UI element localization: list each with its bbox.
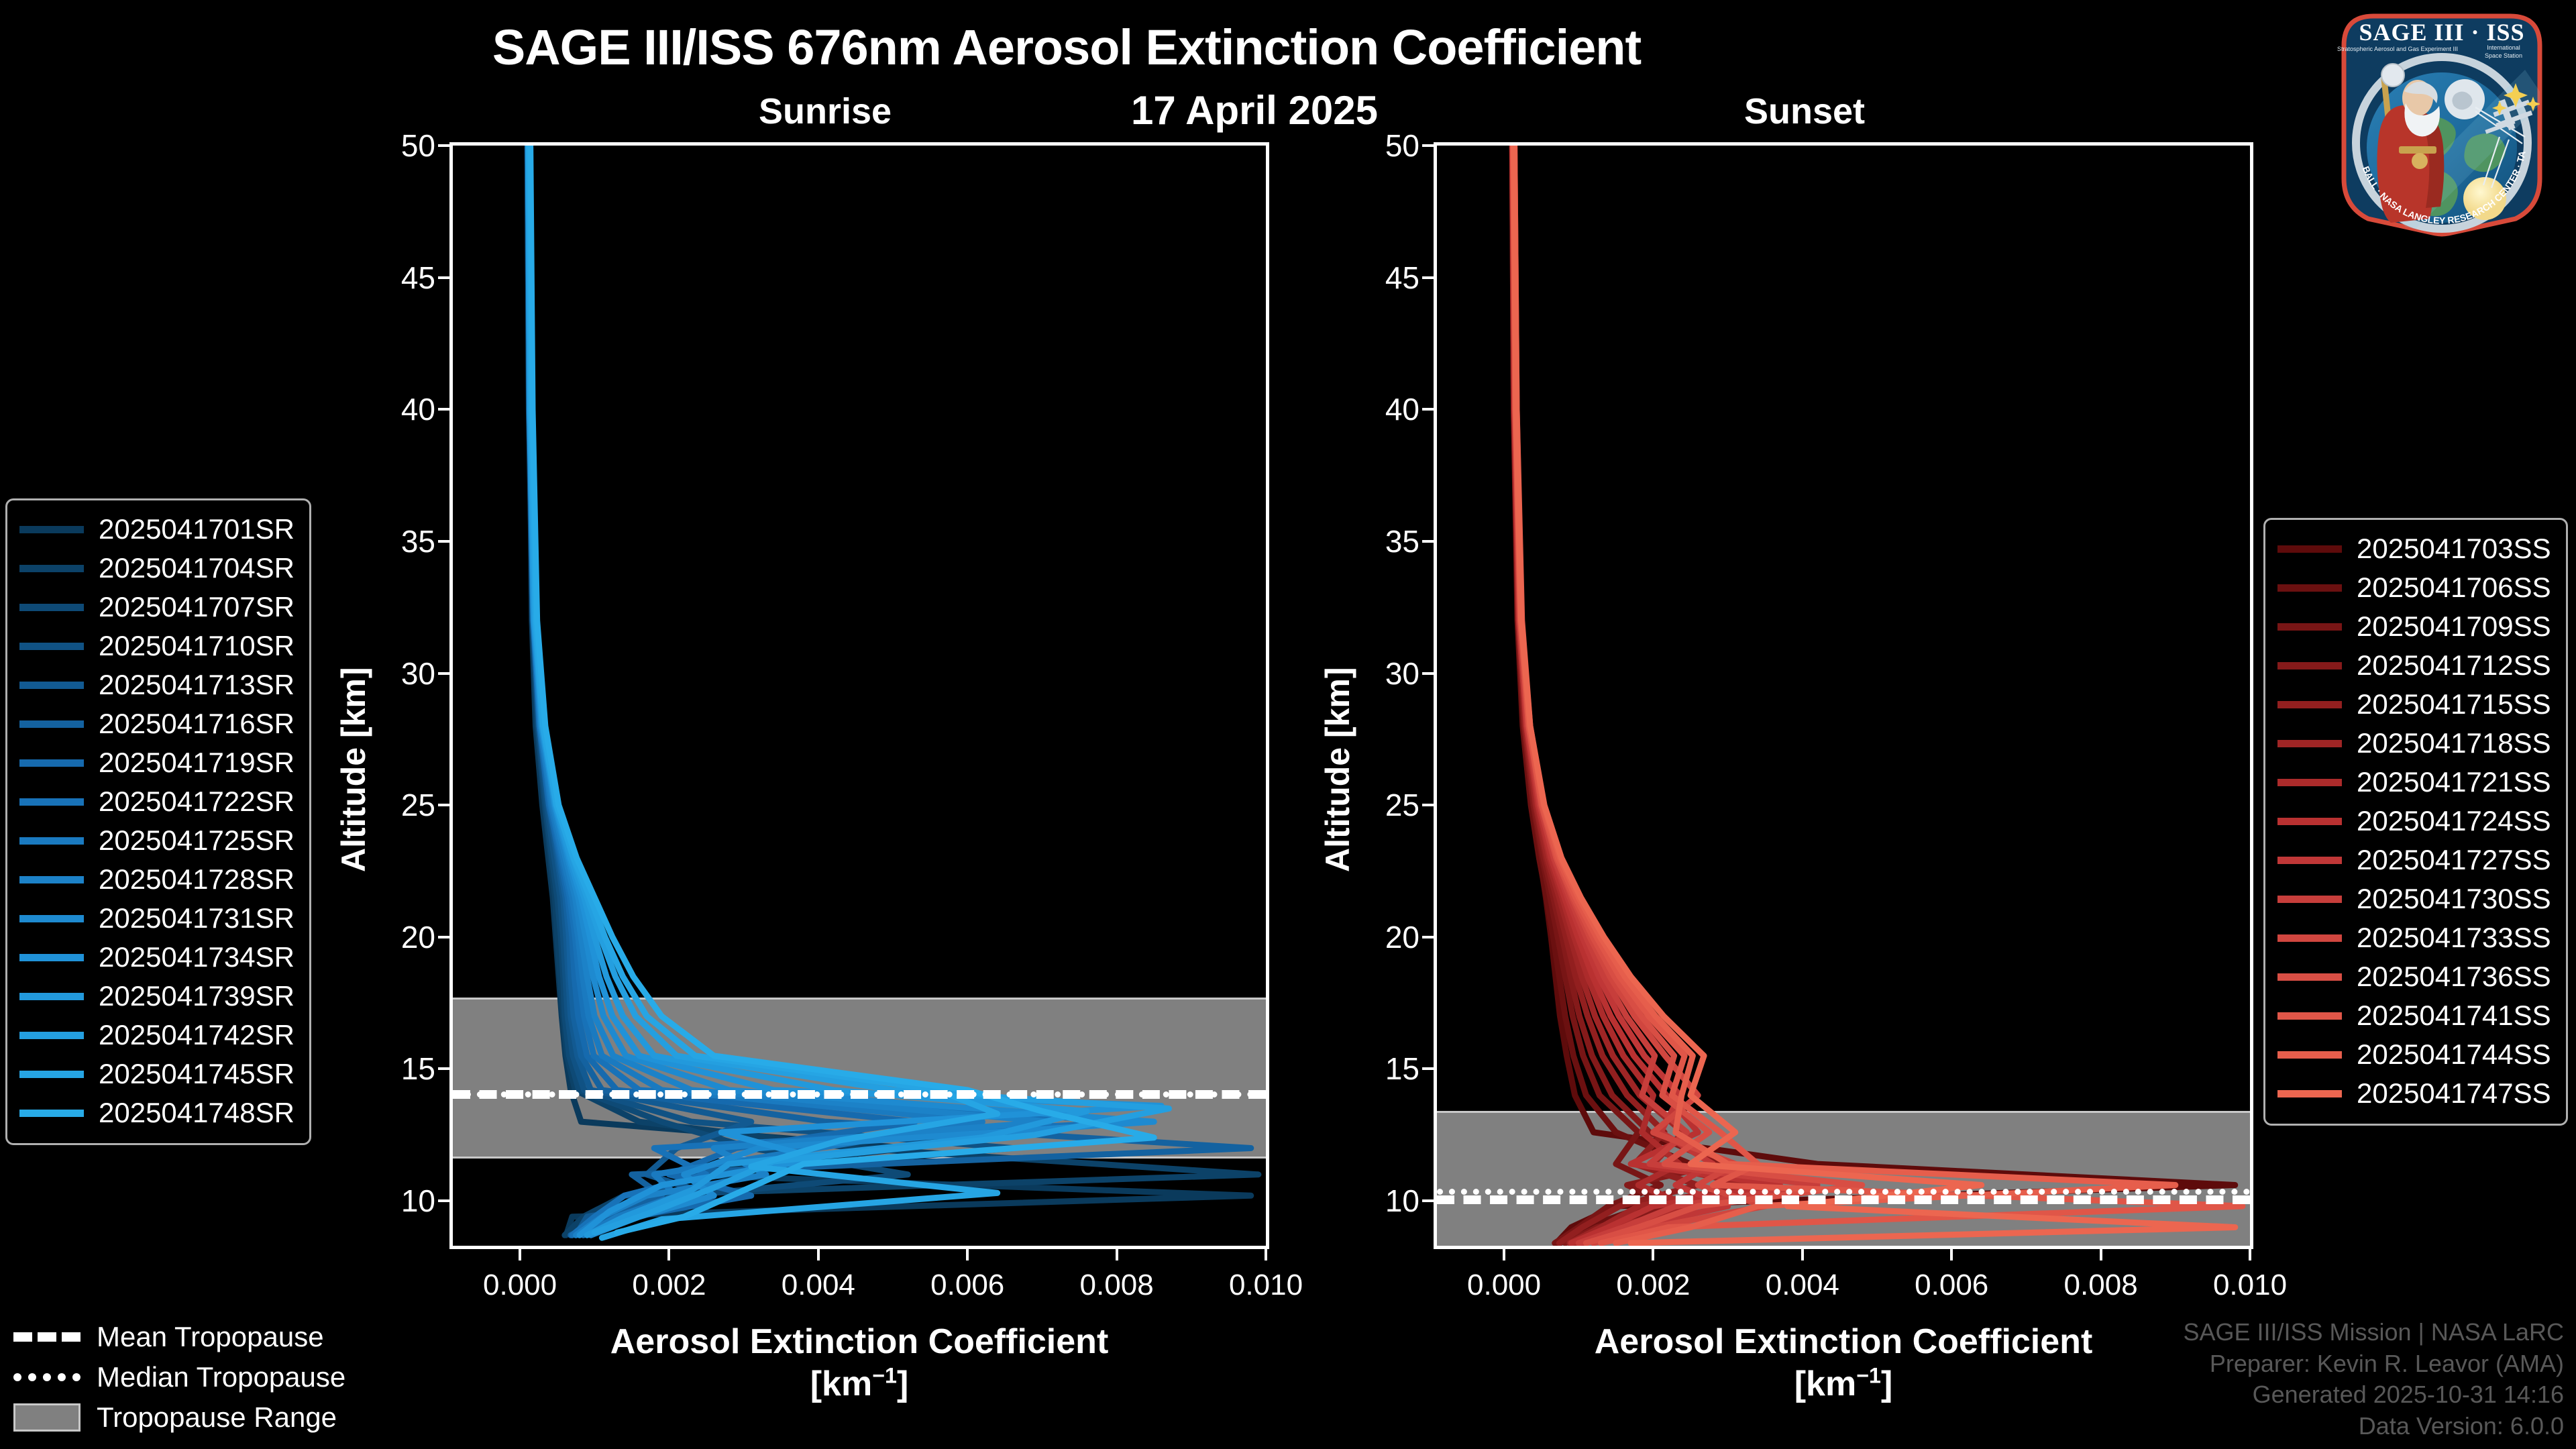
sunrise-event-legend-item[interactable]: 2025041734SR	[19, 938, 294, 977]
sunset-x-axis-unit: [km−1]	[1794, 1364, 1893, 1403]
y-axis-tick-label: 10	[1385, 1183, 1419, 1219]
extinction-profile-line	[1513, 146, 2242, 1243]
legend-row-tropopause-range: Tropopause Range	[13, 1397, 345, 1438]
legend-event-label: 2025041745SR	[99, 1058, 294, 1090]
legend-event-label: 2025041712SS	[2357, 649, 2551, 682]
y-axis-tick-mark	[438, 672, 453, 675]
svg-text:Space Station: Space Station	[2485, 52, 2522, 59]
sunrise-plot-panel: 5045403530252015100.0000.0020.0040.0060.…	[449, 142, 1269, 1249]
sunrise-event-legend-item[interactable]: 2025041701SR	[19, 510, 294, 549]
legend-color-swatch-icon	[19, 798, 84, 806]
y-axis-tick-mark	[438, 276, 453, 279]
extinction-profile-line	[1513, 146, 2235, 1243]
sunset-event-legend-item[interactable]: 2025041727SS	[2277, 841, 2551, 879]
extinction-profile-line	[528, 146, 1258, 1235]
y-axis-tick-label: 10	[401, 1183, 435, 1219]
legend-color-swatch-icon	[19, 1071, 84, 1078]
legend-event-label: 2025041734SR	[99, 941, 294, 973]
legend-color-swatch-icon	[19, 526, 84, 533]
legend-color-swatch-icon	[19, 837, 84, 845]
legend-color-swatch-icon	[2277, 701, 2342, 708]
extinction-profile-line	[529, 146, 1250, 1235]
sunset-event-legend-item[interactable]: 2025041709SS	[2277, 607, 2551, 646]
tropopause-range-label: Tropopause Range	[97, 1401, 337, 1434]
legend-color-swatch-icon	[2277, 857, 2342, 864]
tropopause-legend: Mean Tropopause Median Tropopause Tropop…	[13, 1317, 345, 1438]
extinction-profile-line	[529, 146, 982, 1235]
sunset-event-legend-item[interactable]: 2025041712SS	[2277, 646, 2551, 685]
legend-event-label: 2025041710SR	[99, 630, 294, 662]
sunset-event-legend-item[interactable]: 2025041730SS	[2277, 879, 2551, 918]
y-axis-tick-label: 40	[401, 391, 435, 427]
legend-color-swatch-icon	[19, 993, 84, 1000]
legend-event-label: 2025041736SS	[2357, 961, 2551, 993]
legend-color-swatch-icon	[2277, 623, 2342, 631]
y-axis-tick-mark	[1422, 1067, 1437, 1070]
credits-preparer: Preparer: Kevin R. Leavor (AMA)	[2183, 1348, 2564, 1380]
y-axis-tick-label: 20	[401, 919, 435, 955]
y-axis-tick-mark	[1422, 672, 1437, 675]
x-axis-tick-label: 0.010	[2213, 1269, 2287, 1302]
x-axis-tick-mark	[1950, 1246, 1953, 1260]
legend-event-label: 2025041703SS	[2357, 533, 2551, 565]
mean-tropopause-label: Mean Tropopause	[97, 1321, 324, 1353]
legend-event-label: 2025041747SS	[2357, 1077, 2551, 1110]
sunset-event-legend-item[interactable]: 2025041703SS	[2277, 529, 2551, 568]
extinction-profile-line	[1514, 146, 1750, 1243]
sunset-median-tropopause-line	[1437, 1189, 2250, 1195]
legend-event-label: 2025041733SS	[2357, 922, 2551, 954]
legend-color-swatch-icon	[19, 604, 84, 611]
y-axis-tick-mark	[1422, 276, 1437, 279]
median-tropopause-label: Median Tropopause	[97, 1361, 345, 1393]
y-axis-tick-mark	[438, 408, 453, 411]
y-axis-tick-label: 30	[401, 655, 435, 692]
legend-color-swatch-icon	[19, 876, 84, 883]
legend-color-swatch-icon	[2277, 818, 2342, 825]
sunset-event-legend-item[interactable]: 2025041744SS	[2277, 1035, 2551, 1074]
legend-event-label: 2025041716SR	[99, 708, 294, 740]
svg-text:SAGE III · ISS: SAGE III · ISS	[2359, 19, 2524, 46]
legend-color-swatch-icon	[2277, 740, 2342, 747]
y-axis-tick-mark	[1422, 936, 1437, 938]
sunset-y-axis-label: Altitude [km]	[1318, 667, 1357, 872]
legend-event-label: 2025041730SS	[2357, 883, 2551, 915]
y-axis-tick-mark	[438, 936, 453, 938]
legend-color-swatch-icon	[19, 954, 84, 961]
mean-tropopause-dashed-line-icon	[13, 1332, 80, 1342]
observation-date-title: 17 April 2025	[1006, 87, 1503, 133]
legend-color-swatch-icon	[2277, 662, 2342, 669]
y-axis-tick-mark	[1422, 408, 1437, 411]
x-axis-tick-mark	[966, 1246, 969, 1260]
sunrise-plot-area	[453, 146, 1266, 1246]
sunrise-event-legend-item[interactable]: 2025041748SR	[19, 1093, 294, 1132]
x-axis-tick-mark	[1801, 1246, 1804, 1260]
sunrise-event-legend-item[interactable]: 2025041710SR	[19, 627, 294, 665]
legend-event-label: 2025041724SS	[2357, 805, 2551, 837]
legend-color-swatch-icon	[2277, 934, 2342, 942]
y-axis-tick-mark	[438, 1199, 453, 1202]
sunrise-x-axis-label-text: Aerosol Extinction Coefficient	[610, 1322, 1109, 1361]
legend-event-label: 2025041709SS	[2357, 610, 2551, 643]
sunrise-event-legend[interactable]: 2025041701SR2025041704SR2025041707SR2025…	[5, 498, 311, 1145]
legend-event-label: 2025041748SR	[99, 1097, 294, 1129]
x-axis-tick-label: 0.002	[632, 1269, 706, 1302]
legend-color-swatch-icon	[2277, 1012, 2342, 1020]
x-axis-tick-label: 0.004	[1766, 1269, 1839, 1302]
legend-event-label: 2025041741SS	[2357, 1000, 2551, 1032]
sunrise-event-legend-item[interactable]: 2025041719SR	[19, 743, 294, 782]
y-axis-tick-label: 35	[1385, 523, 1419, 559]
legend-color-swatch-icon	[2277, 1090, 2342, 1097]
page-title: SAGE III/ISS 676nm Aerosol Extinction Co…	[0, 19, 2133, 76]
legend-color-swatch-icon	[19, 759, 84, 767]
legend-row-median-tropopause: Median Tropopause	[13, 1357, 345, 1397]
x-axis-tick-mark	[2249, 1246, 2251, 1260]
legend-row-mean-tropopause: Mean Tropopause	[13, 1317, 345, 1357]
legend-event-label: 2025041742SR	[99, 1019, 294, 1051]
x-axis-tick-label: 0.008	[2064, 1269, 2138, 1302]
sunrise-event-legend-item[interactable]: 2025041713SR	[19, 665, 294, 704]
legend-color-swatch-icon	[19, 682, 84, 689]
sunset-x-axis-label: Aerosol Extinction Coefficient [km−1]	[1434, 1322, 2253, 1405]
legend-color-swatch-icon	[19, 643, 84, 650]
y-axis-tick-label: 15	[401, 1051, 435, 1087]
legend-event-label: 2025041721SS	[2357, 766, 2551, 798]
y-axis-tick-mark	[438, 804, 453, 806]
legend-color-swatch-icon	[2277, 584, 2342, 592]
sunrise-x-axis-label: Aerosol Extinction Coefficient [km−1]	[449, 1322, 1269, 1405]
legend-event-label: 2025041739SR	[99, 980, 294, 1012]
x-axis-tick-label: 0.010	[1229, 1269, 1303, 1302]
legend-color-swatch-icon	[19, 915, 84, 922]
sunrise-event-legend-item[interactable]: 2025041731SR	[19, 899, 294, 938]
sunset-event-legend-item[interactable]: 2025041706SS	[2277, 568, 2551, 607]
y-axis-tick-label: 25	[401, 787, 435, 823]
legend-event-label: 2025041706SS	[2357, 572, 2551, 604]
sunrise-event-legend-item[interactable]: 2025041716SR	[19, 704, 294, 743]
x-axis-tick-mark	[519, 1246, 521, 1260]
x-axis-tick-label: 0.006	[930, 1269, 1004, 1302]
y-axis-tick-label: 45	[401, 260, 435, 296]
svg-text:Stratospheric Aerosol and Gas: Stratospheric Aerosol and Gas Experiment…	[2337, 46, 2458, 52]
legend-event-label: 2025041728SR	[99, 863, 294, 896]
y-axis-tick-label: 35	[401, 523, 435, 559]
x-axis-tick-label: 0.004	[782, 1269, 855, 1302]
tropopause-range-swatch-icon	[13, 1403, 80, 1432]
legend-event-label: 2025041713SR	[99, 669, 294, 701]
x-axis-tick-mark	[1503, 1246, 1505, 1260]
sunset-event-legend-item[interactable]: 2025041736SS	[2277, 957, 2551, 996]
y-axis-tick-label: 40	[1385, 391, 1419, 427]
legend-color-swatch-icon	[2277, 896, 2342, 903]
sunrise-event-legend-item[interactable]: 2025041739SR	[19, 977, 294, 1016]
x-axis-tick-label: 0.000	[483, 1269, 557, 1302]
y-axis-tick-label: 25	[1385, 787, 1419, 823]
sunset-plot-panel: 5045403530252015100.0000.0020.0040.0060.…	[1434, 142, 2253, 1249]
y-axis-tick-mark	[1422, 804, 1437, 806]
y-axis-tick-label: 50	[401, 127, 435, 164]
x-axis-tick-label: 0.002	[1616, 1269, 1690, 1302]
sunrise-y-axis-label: Altitude [km]	[334, 667, 373, 872]
legend-event-label: 2025041722SR	[99, 786, 294, 818]
sunset-event-legend-item[interactable]: 2025041721SS	[2277, 763, 2551, 802]
y-axis-tick-mark	[1422, 144, 1437, 147]
legend-event-label: 2025041731SR	[99, 902, 294, 934]
legend-color-swatch-icon	[19, 565, 84, 572]
extinction-profile-line	[528, 146, 751, 1235]
sunrise-event-legend-item[interactable]: 2025041728SR	[19, 860, 294, 899]
y-axis-tick-label: 50	[1385, 127, 1419, 164]
y-axis-tick-mark	[438, 540, 453, 543]
legend-event-label: 2025041701SR	[99, 513, 294, 545]
y-axis-tick-label: 45	[1385, 260, 1419, 296]
legend-color-swatch-icon	[2277, 1051, 2342, 1059]
y-axis-tick-mark	[1422, 540, 1437, 543]
x-axis-tick-mark	[817, 1246, 820, 1260]
extinction-profile-line	[1514, 146, 2235, 1243]
x-axis-tick-label: 0.000	[1467, 1269, 1541, 1302]
x-axis-tick-mark	[2100, 1246, 2102, 1260]
sunrise-median-tropopause-line	[453, 1091, 1266, 1097]
legend-event-label: 2025041707SR	[99, 591, 294, 623]
sunset-mean-tropopause-line	[1437, 1195, 2250, 1204]
legend-color-swatch-icon	[19, 1032, 84, 1039]
sunrise-event-legend-item[interactable]: 2025041742SR	[19, 1016, 294, 1055]
sunset-event-legend-item[interactable]: 2025041741SS	[2277, 996, 2551, 1035]
x-axis-tick-mark	[667, 1246, 670, 1260]
sunset-panel-title: Sunset	[1570, 91, 2039, 132]
legend-color-swatch-icon	[2277, 973, 2342, 981]
sunrise-panel-title: Sunrise	[590, 91, 1060, 132]
extinction-profile-line	[529, 146, 1250, 1235]
sunset-event-legend-item[interactable]: 2025041724SS	[2277, 802, 2551, 841]
svg-text:International: International	[2487, 44, 2520, 51]
sage-iii-iss-mission-patch-logo: SAGE III · ISS Stratospheric Aerosol and…	[2324, 5, 2560, 241]
sunset-event-legend-item[interactable]: 2025041715SS	[2277, 685, 2551, 724]
legend-event-label: 2025041727SS	[2357, 844, 2551, 876]
legend-color-swatch-icon	[19, 720, 84, 728]
legend-color-swatch-icon	[19, 1110, 84, 1117]
sunrise-event-legend-item[interactable]: 2025041725SR	[19, 821, 294, 860]
y-axis-tick-label: 15	[1385, 1051, 1419, 1087]
legend-event-label: 2025041744SS	[2357, 1038, 2551, 1071]
sunrise-event-legend-item[interactable]: 2025041745SR	[19, 1055, 294, 1093]
sunset-extinction-curves	[1437, 146, 2250, 1246]
legend-color-swatch-icon	[2277, 545, 2342, 553]
sunset-event-legend-item[interactable]: 2025041718SS	[2277, 724, 2551, 763]
y-axis-tick-label: 20	[1385, 919, 1419, 955]
y-axis-tick-label: 30	[1385, 655, 1419, 692]
median-tropopause-dotted-line-icon	[13, 1373, 80, 1381]
x-axis-tick-label: 0.006	[1915, 1269, 1988, 1302]
sunset-plot-area	[1437, 146, 2250, 1246]
credits-block: SAGE III/ISS Mission | NASA LaRC Prepare…	[2183, 1317, 2564, 1442]
legend-event-label: 2025041725SR	[99, 824, 294, 857]
legend-event-label: 2025041718SS	[2357, 727, 2551, 759]
sunrise-extinction-curves	[453, 146, 1266, 1246]
credits-data-version: Data Version: 6.0.0	[2183, 1411, 2564, 1442]
y-axis-tick-mark	[438, 144, 453, 147]
y-axis-tick-mark	[1422, 1199, 1437, 1202]
sunset-event-legend-item[interactable]: 2025041747SS	[2277, 1074, 2551, 1113]
x-axis-tick-label: 0.008	[1080, 1269, 1154, 1302]
sunset-event-legend[interactable]: 2025041703SS2025041706SS2025041709SS2025…	[2263, 518, 2568, 1126]
credits-generated: Generated 2025-10-31 14:16	[2183, 1379, 2564, 1411]
sunrise-event-legend-item[interactable]: 2025041707SR	[19, 588, 294, 627]
x-axis-tick-mark	[1652, 1246, 1654, 1260]
x-axis-tick-mark	[1265, 1246, 1267, 1260]
x-axis-tick-mark	[1116, 1246, 1118, 1260]
sunrise-event-legend-item[interactable]: 2025041704SR	[19, 549, 294, 588]
sunset-event-legend-item[interactable]: 2025041733SS	[2277, 918, 2551, 957]
legend-event-label: 2025041715SS	[2357, 688, 2551, 720]
sunset-x-axis-label-text: Aerosol Extinction Coefficient	[1595, 1322, 2093, 1361]
legend-color-swatch-icon	[2277, 779, 2342, 786]
credits-mission: SAGE III/ISS Mission | NASA LaRC	[2183, 1317, 2564, 1348]
legend-event-label: 2025041719SR	[99, 747, 294, 779]
legend-event-label: 2025041704SR	[99, 552, 294, 584]
y-axis-tick-mark	[438, 1067, 453, 1070]
sunrise-x-axis-unit: [km−1]	[810, 1364, 909, 1403]
sunrise-event-legend-item[interactable]: 2025041722SR	[19, 782, 294, 821]
